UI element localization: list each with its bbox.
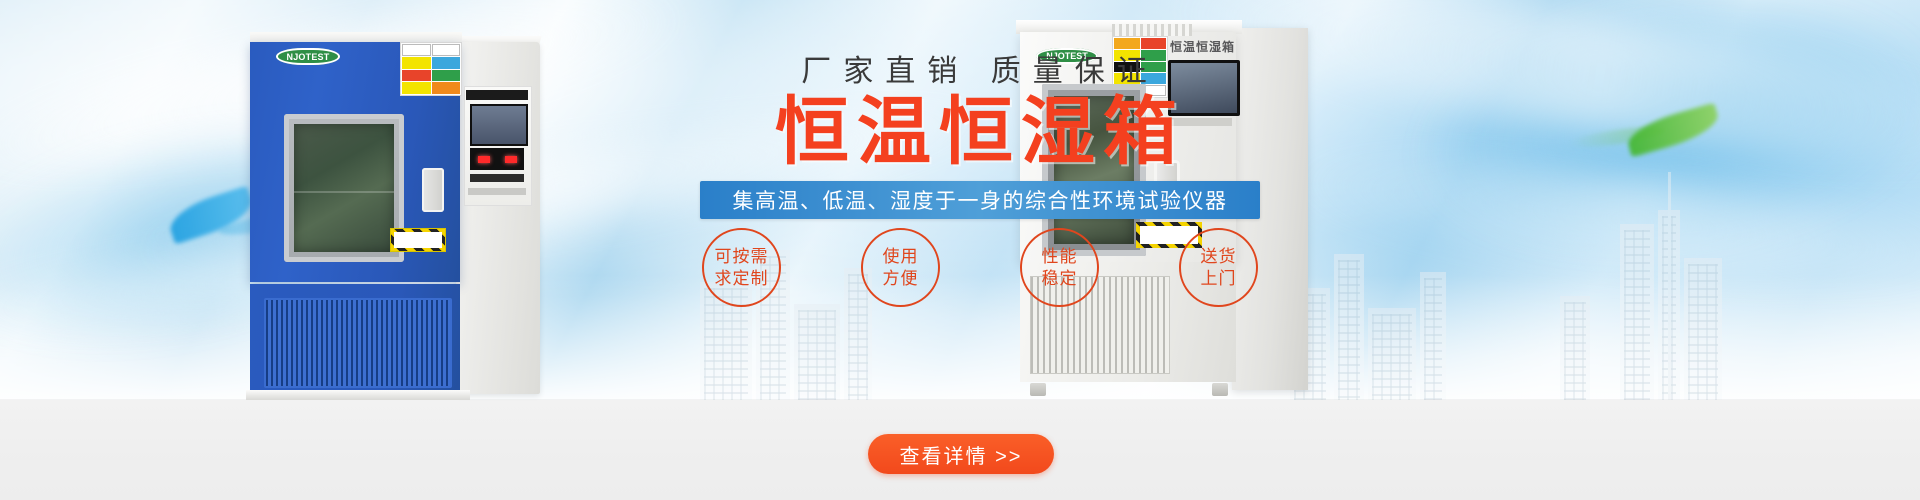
badge-line-1: 可按需 [715, 246, 769, 268]
manufacturer-label-strip [468, 188, 526, 195]
led-display-icon [470, 148, 524, 170]
brand-logo-text: NJOTEST [287, 52, 330, 62]
badge-line-2: 稳定 [1042, 268, 1078, 290]
brand-logo-badge: NJOTEST [276, 48, 340, 65]
product-image-blue-chamber: NJOTEST [250, 28, 540, 400]
chamber-base-plinth [246, 390, 470, 400]
feature-badge-delivery[interactable]: 送货 上门 [1179, 228, 1258, 307]
ventilation-grille-icon [264, 298, 452, 388]
feature-badge-custom[interactable]: 可按需 求定制 [702, 228, 781, 307]
headline-block: 厂家直销 质量保证 恒温恒湿箱 集高温、低温、湿度于一身的综合性环境试验仪器 [700, 46, 1260, 219]
promo-banner: NJOTEST NJOTEST [0, 0, 1920, 500]
view-details-button[interactable]: 查看详情 >> [868, 434, 1054, 474]
badge-line-1: 送货 [1201, 246, 1237, 268]
control-panel-title-strip [466, 90, 528, 100]
badge-line-1: 性能 [1042, 246, 1078, 268]
control-screen-icon [470, 104, 528, 146]
badge-line-2: 上门 [1201, 268, 1237, 290]
chamber-feet [1026, 382, 1232, 396]
badge-line-2: 方便 [883, 268, 919, 290]
hazard-stripe-label [390, 228, 446, 252]
feature-badge-list: 可按需 求定制 使用 方便 性能 稳定 送货 上门 [702, 228, 1258, 307]
subtitle-text: 集高温、低温、湿度于一身的综合性环境试验仪器 [733, 185, 1228, 215]
feature-badge-easy-use[interactable]: 使用 方便 [861, 228, 940, 307]
door-handle-icon [422, 168, 444, 212]
subtitle-bar: 集高温、低温、湿度于一身的综合性环境试验仪器 [700, 181, 1260, 219]
feature-badge-stable[interactable]: 性能 稳定 [1020, 228, 1099, 307]
page-title: 恒温恒湿箱 [700, 94, 1260, 169]
chamber-viewport-glass [294, 124, 394, 252]
badge-line-2: 求定制 [715, 268, 769, 290]
warning-sticker-icon [400, 42, 462, 96]
control-buttons-row [470, 174, 524, 182]
vent-slots-icon [1112, 24, 1192, 36]
badge-line-1: 使用 [883, 246, 919, 268]
eyebrow-text: 厂家直销 质量保证 [700, 46, 1260, 90]
